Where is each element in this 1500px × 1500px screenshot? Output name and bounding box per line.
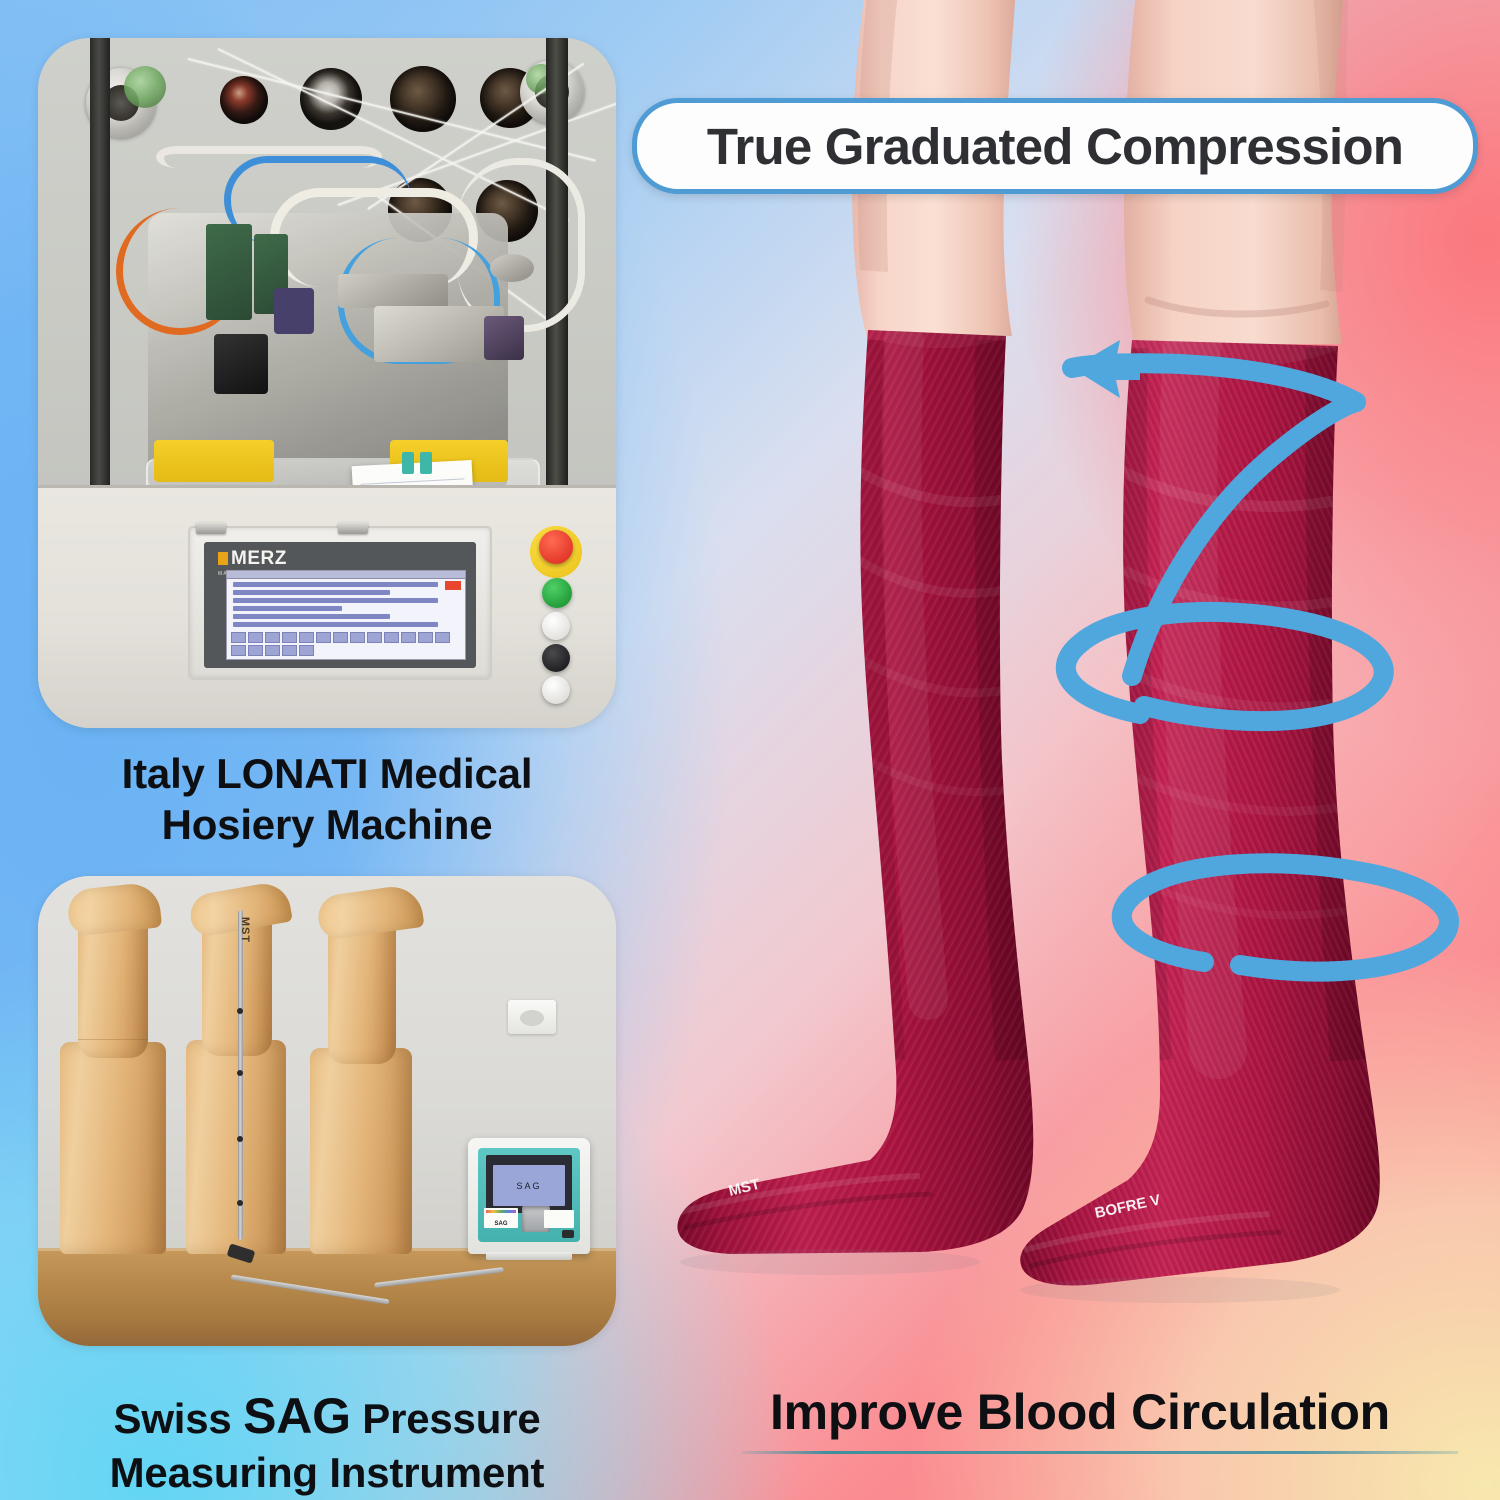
lcd-soft-keys[interactable] xyxy=(231,632,461,656)
lcd-row xyxy=(233,606,342,611)
product-photo-legs-with-socks: MST BOFRE V xyxy=(620,0,1500,1320)
emergency-stop-button[interactable] xyxy=(530,526,582,578)
circuit-board xyxy=(206,224,252,320)
yarn-spool xyxy=(220,76,268,124)
panel-hinge xyxy=(196,522,226,534)
lcd-alarm-indicator xyxy=(445,581,461,590)
sag-measuring-device: SAG SAG xyxy=(468,1138,590,1254)
machine-photo-card: MERZ MASCHINENFABRIK GMBH xyxy=(38,38,616,728)
sag-photo-card: MST SAG SAG xyxy=(38,876,616,1346)
legs-illustration: MST BOFRE V xyxy=(620,0,1500,1320)
circulation-caption: Improve Blood Circulation xyxy=(700,1382,1460,1443)
sag-brand-label: SAG xyxy=(484,1208,518,1228)
right-sock: BOFRE V xyxy=(1020,300,1440,1320)
sag-port xyxy=(562,1230,574,1238)
sag-caption-post: Pressure xyxy=(351,1395,541,1442)
lcd-row xyxy=(233,598,438,603)
green-start-button[interactable] xyxy=(542,578,572,608)
white-button[interactable] xyxy=(542,612,570,640)
black-button[interactable] xyxy=(542,644,570,672)
machine-base-housing: MERZ MASCHINENFABRIK GMBH xyxy=(38,485,616,728)
caption-divider-rule xyxy=(742,1451,1458,1454)
lcd-row xyxy=(233,590,390,595)
green-pulley xyxy=(124,66,166,108)
merz-logo-text: MERZ xyxy=(231,548,287,569)
lcd-row xyxy=(233,622,438,627)
needle-cylinder-top xyxy=(338,274,448,308)
headline-banner: True Graduated Compression xyxy=(632,98,1478,194)
lcd-row xyxy=(233,614,390,619)
sag-device-screen[interactable]: SAG xyxy=(486,1155,572,1213)
sag-caption-line1: Swiss SAG Pressure xyxy=(22,1386,632,1447)
white-button[interactable] xyxy=(542,676,570,704)
wire-bundle xyxy=(484,316,524,360)
headline-text: True Graduated Compression xyxy=(707,117,1403,176)
sag-model-label xyxy=(544,1210,574,1228)
yellow-terminal-block xyxy=(154,440,274,482)
machine-frame-post xyxy=(90,38,110,508)
infographic-canvas: MST BOFRE V xyxy=(0,0,1500,1500)
machine-caption-line2: Hosiery Machine xyxy=(22,799,632,850)
panel-hinge xyxy=(338,522,368,534)
lcd-row xyxy=(233,582,438,587)
wall-outlet xyxy=(508,1000,556,1034)
machine-lcd-screen[interactable] xyxy=(226,570,466,660)
machine-caption-line1: Italy LONATI Medical xyxy=(22,748,632,799)
wooden-table xyxy=(38,1248,616,1346)
sag-screen-text: SAG xyxy=(516,1181,541,1191)
tension-roller xyxy=(490,254,534,282)
sag-caption-line2: Measuring Instrument xyxy=(22,1447,632,1498)
sag-device-stand xyxy=(486,1252,572,1260)
binder-clip xyxy=(402,452,414,474)
sag-label-text: SAG xyxy=(484,1221,518,1227)
sag-caption: Swiss SAG Pressure Measuring Instrument xyxy=(22,1386,632,1498)
lcd-menu-bar xyxy=(227,571,465,579)
machine-control-panel: MERZ MASCHINENFABRIK GMBH xyxy=(188,526,492,680)
controller-module xyxy=(214,334,268,394)
leg-form-mst-mark: MST xyxy=(239,917,251,943)
machine-caption: Italy LONATI Medical Hosiery Machine xyxy=(22,748,632,850)
sag-caption-pre: Swiss xyxy=(114,1395,244,1442)
sag-screen-content: SAG xyxy=(493,1165,565,1206)
sag-device-faceplate: SAG SAG xyxy=(478,1148,580,1242)
wire-bundle xyxy=(274,288,314,334)
panel-bezel: MERZ MASCHINENFABRIK GMBH xyxy=(204,542,476,668)
binder-clip xyxy=(420,452,432,474)
sag-caption-brand: SAG xyxy=(243,1388,351,1444)
left-sock: MST xyxy=(620,296,1140,1300)
